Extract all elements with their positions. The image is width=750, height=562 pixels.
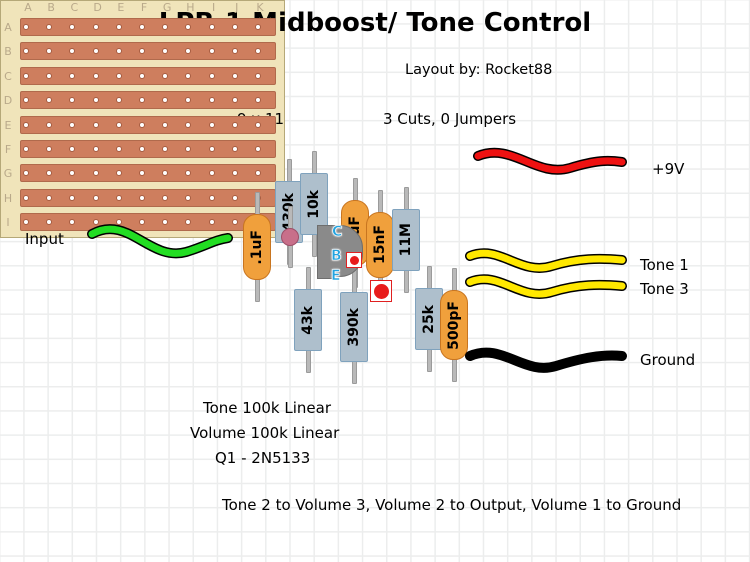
hole-II[interactable] [209,219,215,225]
hole-FE[interactable] [139,122,145,128]
hole-IE[interactable] [209,122,215,128]
wire-power [478,153,622,170]
hole-DE[interactable] [93,122,99,128]
resistor-25k[interactable]: 25k [415,288,443,350]
copper-strip-D[interactable] [20,91,276,109]
column-header-I: I [207,1,221,14]
r4-value-label: 43k [300,306,316,335]
hole-HG[interactable] [185,170,191,176]
hole-BD[interactable] [46,97,52,103]
hole-BC[interactable] [46,73,52,79]
copper-strip-G[interactable] [20,164,276,182]
hole-HI[interactable] [185,219,191,225]
column-header-E: E [114,1,128,14]
row-header-I: I [2,216,14,229]
hole-FI[interactable] [139,219,145,225]
hole-JB[interactable] [232,48,238,54]
hole-ID[interactable] [209,97,215,103]
hole-FG[interactable] [139,170,145,176]
hole-DC[interactable] [93,73,99,79]
hole-GG[interactable] [162,170,168,176]
cuts-jumpers-label: 3 Cuts, 0 Jumpers [383,110,516,128]
hole-IG[interactable] [209,170,215,176]
hole-GA[interactable] [162,24,168,30]
hole-EI[interactable] [116,219,122,225]
r3-value-label: 11M [398,223,414,256]
hole-FH[interactable] [139,195,145,201]
hole-CI[interactable] [69,219,75,225]
label-tone1: Tone 1 [640,256,689,274]
wire-tone1 [470,253,622,268]
layout-author: Layout by: Rocket88 [405,62,552,78]
hole-CA[interactable] [69,24,75,30]
label-tone3: Tone 3 [640,280,689,298]
capacitor-15nF[interactable]: 15nF [366,212,394,278]
hole-IA[interactable] [209,24,215,30]
row-header-H: H [2,192,14,205]
hole-HH[interactable] [185,195,191,201]
c1-value-label: .1uF [249,230,265,265]
hole-BA[interactable] [46,24,52,30]
hole-CB[interactable] [69,48,75,54]
resistor-390k[interactable]: 390k [340,292,368,362]
hole-KG[interactable] [255,170,261,176]
hole-AB[interactable] [23,48,29,54]
row-header-C: C [2,70,14,83]
copper-strip-F[interactable] [20,140,276,158]
resistor-11M[interactable]: 11M [392,209,420,271]
hole-KE[interactable] [255,122,261,128]
copper-strip-C[interactable] [20,67,276,85]
hole-CF[interactable] [69,146,75,152]
column-header-G: G [160,1,174,14]
hole-EH[interactable] [116,195,122,201]
row-header-B: B [2,45,14,58]
hole-JH[interactable] [232,195,238,201]
copper-strip-A[interactable] [20,18,276,36]
hole-AF[interactable] [23,146,29,152]
hole-CD[interactable] [69,97,75,103]
hole-HA[interactable] [185,24,191,30]
hole-HF[interactable] [185,146,191,152]
hole-FB[interactable] [139,48,145,54]
hole-DH[interactable] [93,195,99,201]
hole-IH[interactable] [209,195,215,201]
column-header-J: J [230,1,244,14]
row-header-F: F [2,143,14,156]
hole-BE[interactable] [46,122,52,128]
hole-BH[interactable] [46,195,52,201]
hole-DD[interactable] [93,97,99,103]
hole-GF[interactable] [162,146,168,152]
capacitor-1uF[interactable]: .1uF [243,214,271,280]
hole-IF[interactable] [209,146,215,152]
hole-DI[interactable] [93,219,99,225]
track-cut-1[interactable] [346,252,362,268]
label-power: +9V [652,160,684,178]
hole-KB[interactable] [255,48,261,54]
transistor-pin-e: E [331,268,341,284]
hole-JC[interactable] [232,73,238,79]
column-header-K: K [253,1,267,14]
r6-value-label: 25k [421,305,437,334]
hole-JA[interactable] [232,24,238,30]
hole-EB[interactable] [116,48,122,54]
column-header-D: D [91,1,105,14]
hole-EC[interactable] [116,73,122,79]
hole-JF[interactable] [232,146,238,152]
hole-DA[interactable] [93,24,99,30]
hole-BB[interactable] [46,48,52,54]
hole-BG[interactable] [46,170,52,176]
copper-strip-B[interactable] [20,42,276,60]
note-transistor: Q1 - 2N5133 [215,449,310,467]
hole-IC[interactable] [209,73,215,79]
hole-AD[interactable] [23,97,29,103]
column-header-H: H [183,1,197,14]
hole-AG[interactable] [23,170,29,176]
hole-JG[interactable] [232,170,238,176]
hole-HD[interactable] [185,97,191,103]
hole-EA[interactable] [116,24,122,30]
note-volume-pot: Volume 100k Linear [190,424,339,442]
wire-ground [470,353,622,368]
hole-HB[interactable] [185,48,191,54]
hole-GE[interactable] [162,122,168,128]
copper-strip-E[interactable] [20,116,276,134]
label-ground: Ground [640,351,695,369]
capacitor-500pF[interactable]: 500pF [440,290,468,360]
hole-KC[interactable] [255,73,261,79]
hole-AH[interactable] [23,195,29,201]
note-wiring: Tone 2 to Volume 3, Volume 2 to Output, … [222,496,681,514]
hole-DG[interactable] [93,170,99,176]
resistor-43k[interactable]: 43k [294,289,322,351]
hole-HC[interactable] [185,73,191,79]
hole-JD[interactable] [232,97,238,103]
transistor-pin-b: B [331,248,342,264]
hole-ED[interactable] [116,97,122,103]
hole-DF[interactable] [93,146,99,152]
hole-FA[interactable] [139,24,145,30]
hole-AA[interactable] [23,24,29,30]
hole-CE[interactable] [69,122,75,128]
column-header-F: F [137,1,151,14]
hole-DB[interactable] [93,48,99,54]
row-header-D: D [2,94,14,107]
hole-FC[interactable] [139,73,145,79]
hole-GI[interactable] [162,219,168,225]
hole-AI[interactable] [23,219,29,225]
hole-EE[interactable] [116,122,122,128]
hole-KF[interactable] [255,146,261,152]
hole-EG[interactable] [116,170,122,176]
label-input: Input [25,230,64,248]
column-header-B: B [44,1,58,14]
hole-GD[interactable] [162,97,168,103]
hole-KD[interactable] [255,97,261,103]
hole-KA[interactable] [255,24,261,30]
veroboard[interactable]: ABCDEFGHIJK ABCDEFGHI [0,0,285,238]
row-header-E: E [2,119,14,132]
hole-JE[interactable] [232,122,238,128]
r2-value-label: 10k [306,190,322,219]
column-header-A: A [21,1,35,14]
hole-FD[interactable] [139,97,145,103]
hole-EF[interactable] [116,146,122,152]
hole-BF[interactable] [46,146,52,152]
hole-CC[interactable] [69,73,75,79]
hole-AC[interactable] [23,73,29,79]
hole-AE[interactable] [23,122,29,128]
row-header-G: G [2,167,14,180]
electrolytic-[interactable] [281,228,299,246]
c3-value-label: 15nF [372,225,388,264]
hole-GB[interactable] [162,48,168,54]
hole-GC[interactable] [162,73,168,79]
r5-value-label: 390k [346,308,362,347]
hole-GH[interactable] [162,195,168,201]
hole-CH[interactable] [69,195,75,201]
hole-FF[interactable] [139,146,145,152]
hole-HE[interactable] [185,122,191,128]
hole-BI[interactable] [46,219,52,225]
row-header-A: A [2,21,14,34]
copper-strip-I[interactable] [20,213,276,231]
c4-value-label: 500pF [446,301,462,350]
note-tone-pot: Tone 100k Linear [203,399,331,417]
column-header-C: C [67,1,81,14]
transistor-pin-c: C [332,224,342,240]
hole-JI[interactable] [232,219,238,225]
wire-tone3 [470,279,622,294]
track-cut-2[interactable] [370,280,392,302]
hole-CG[interactable] [69,170,75,176]
hole-IB[interactable] [209,48,215,54]
copper-strip-H[interactable] [20,189,276,207]
